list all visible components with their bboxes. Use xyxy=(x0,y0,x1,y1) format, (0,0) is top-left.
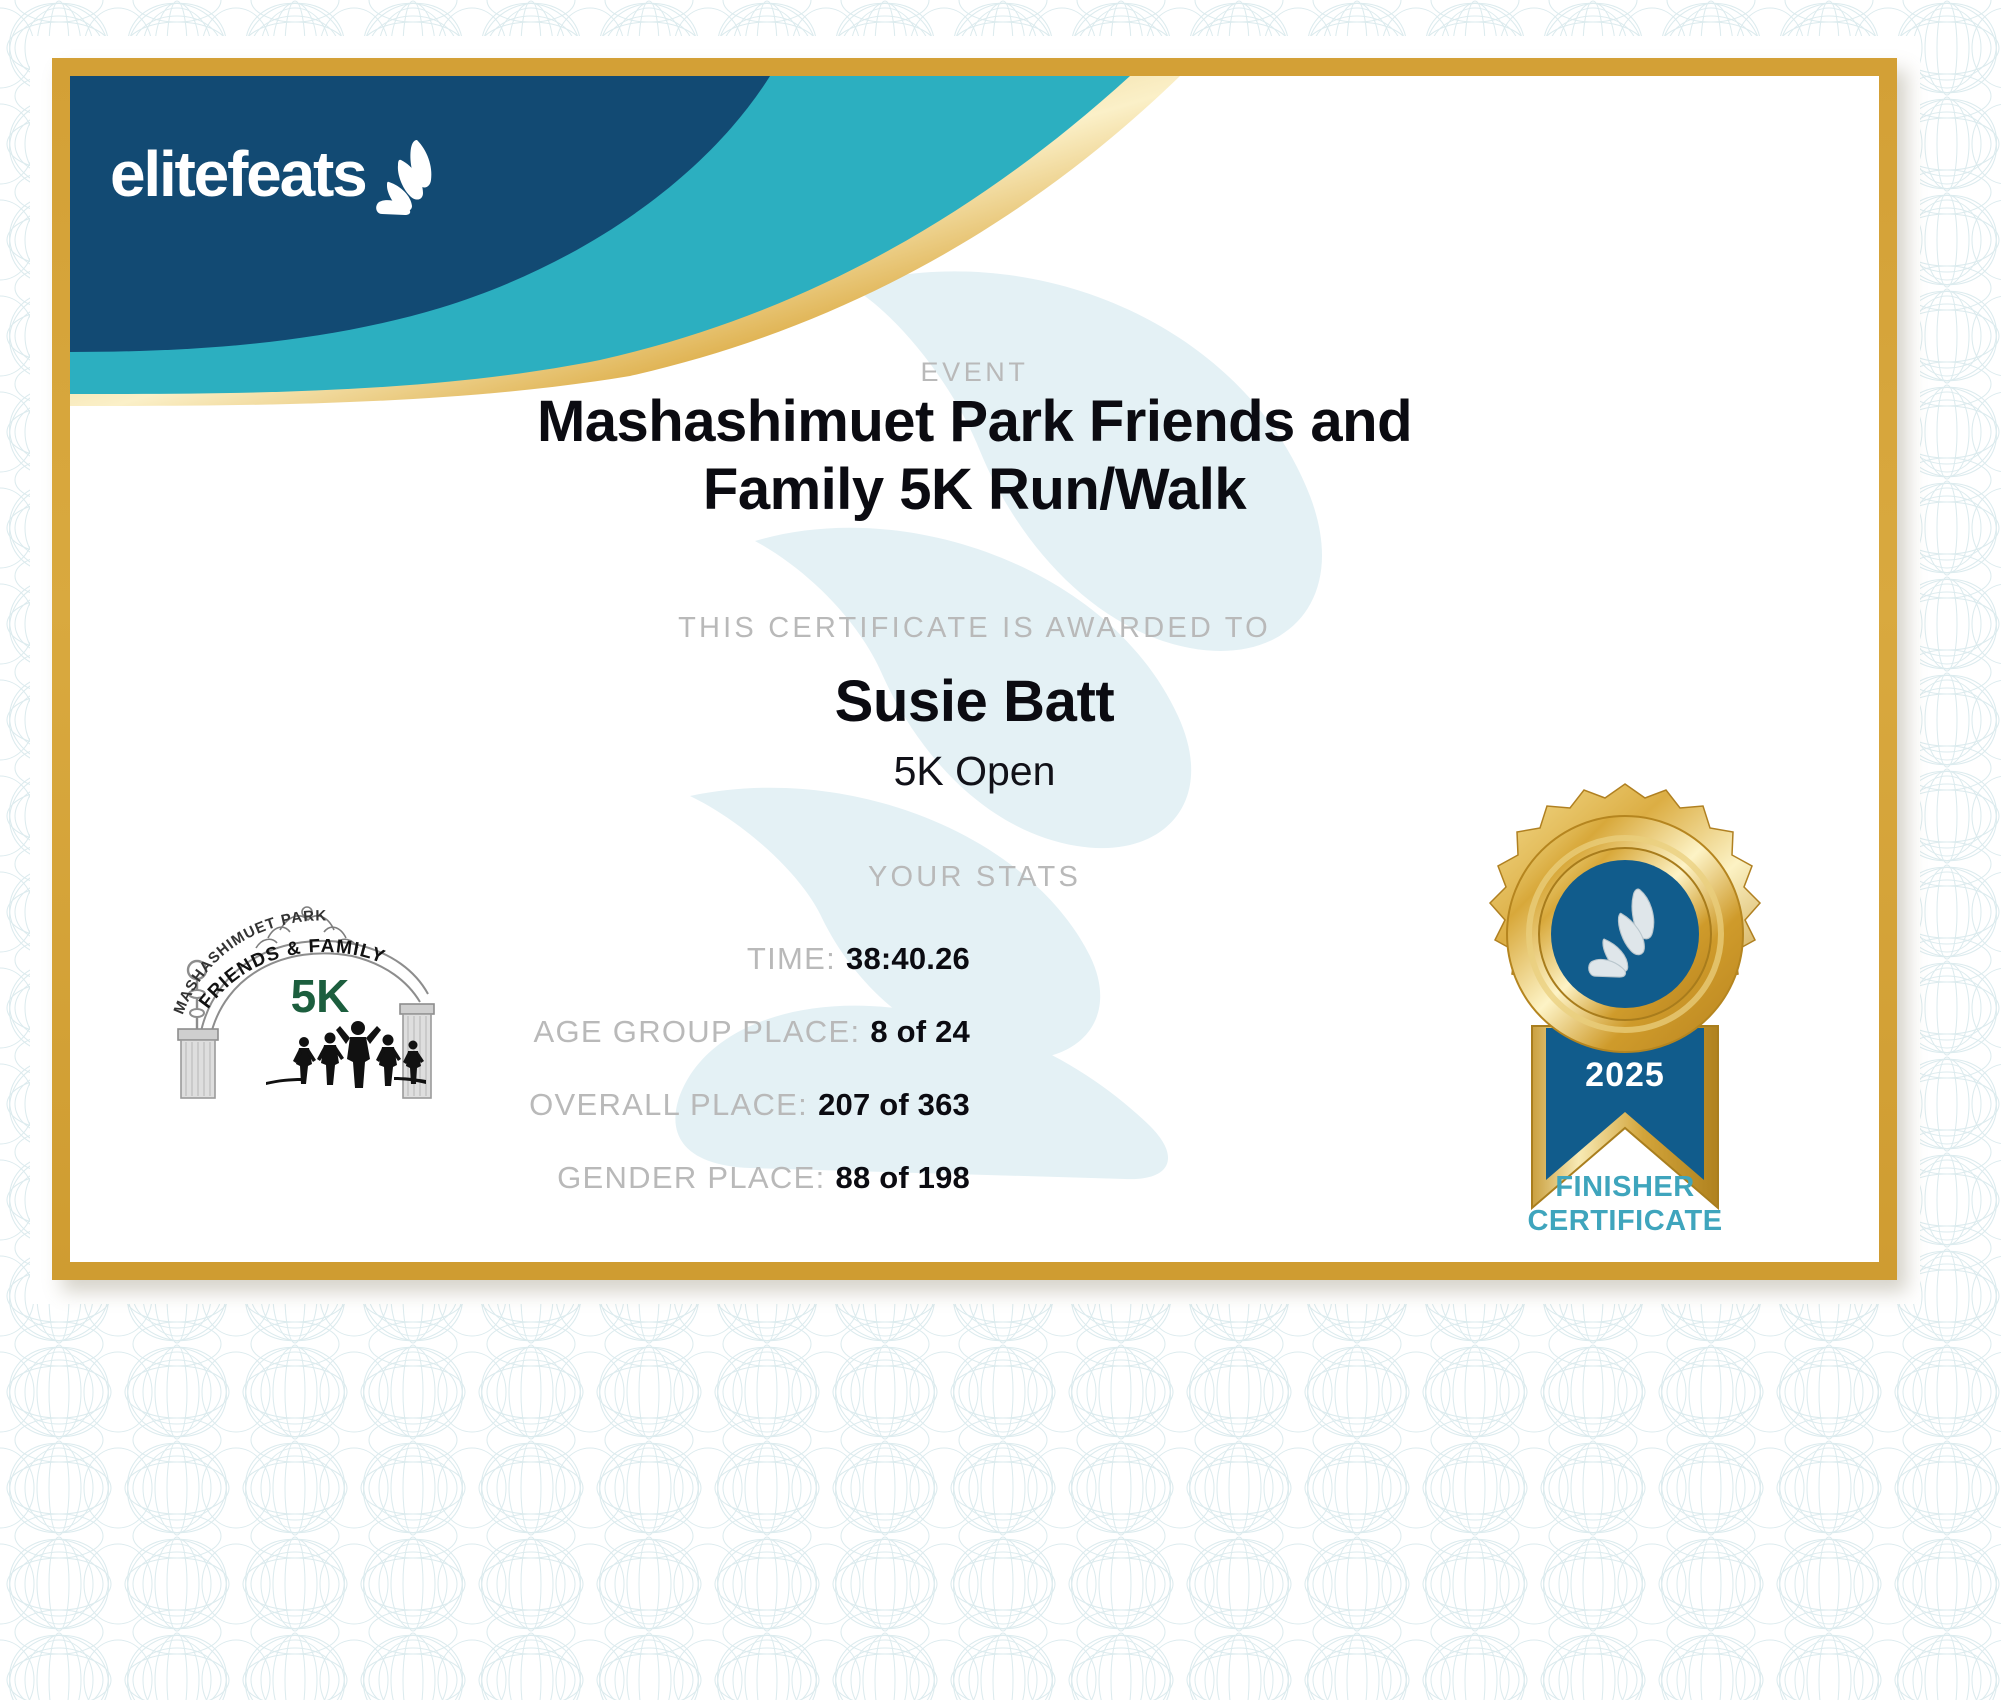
stats-list: TIME: 38:40.26 AGE GROUP PLACE: 8 of 24 … xyxy=(400,941,970,1233)
stat-label: AGE GROUP PLACE: xyxy=(534,1014,861,1050)
stat-label: OVERALL PLACE: xyxy=(529,1087,808,1123)
certificate-content: EVENT Mashashimuet Park Friends and Fami… xyxy=(70,76,1879,1262)
stat-label: GENDER PLACE: xyxy=(557,1160,825,1196)
stat-label: TIME: xyxy=(747,941,836,977)
stat-row-overall-place: OVERALL PLACE: 207 of 363 xyxy=(400,1087,970,1123)
medal-year: 2025 xyxy=(1585,1056,1665,1094)
race-logo-distance: 5K xyxy=(291,970,350,1022)
stat-row-gender-place: GENDER PLACE: 88 of 198 xyxy=(400,1160,970,1196)
event-kicker-label: EVENT xyxy=(70,357,1879,388)
stat-row-time: TIME: 38:40.26 xyxy=(400,941,970,977)
stat-value: 88 of 198 xyxy=(836,1160,971,1196)
finisher-caption-line-1: FINISHER xyxy=(1460,1171,1790,1205)
event-title: Mashashimuet Park Friends and Family 5K … xyxy=(465,388,1485,525)
event-title-line-2: Family 5K Run/Walk xyxy=(465,456,1485,524)
stat-row-age-group-place: AGE GROUP PLACE: 8 of 24 xyxy=(400,1014,970,1050)
event-title-line-1: Mashashimuet Park Friends and xyxy=(465,388,1485,456)
certificate-inner-panel: elitefeats EVENT Mashashimuet Park Frien… xyxy=(70,76,1879,1262)
stat-value: 8 of 24 xyxy=(870,1014,970,1050)
recipient-name: Susie Batt xyxy=(70,668,1879,735)
finisher-certificate-caption: FINISHER CERTIFICATE xyxy=(1460,1171,1790,1238)
race-event-logo: MASHASHIMUET PARK FRIENDS & FAMILY 5K xyxy=(148,886,438,1101)
certificate-card: elitefeats EVENT Mashashimuet Park Frien… xyxy=(52,58,1897,1280)
stat-value: 207 of 363 xyxy=(818,1087,970,1123)
awarded-to-label: THIS CERTIFICATE IS AWARDED TO xyxy=(70,612,1879,645)
finisher-caption-line-2: CERTIFICATE xyxy=(1460,1205,1790,1239)
stat-value: 38:40.26 xyxy=(846,941,970,977)
